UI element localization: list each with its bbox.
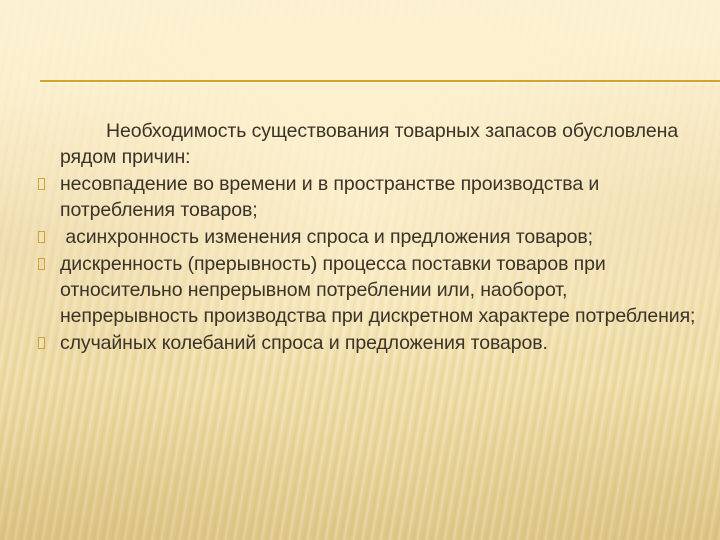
- title-divider-rule: [40, 80, 720, 82]
- tofu-box-bullet-icon: [38, 178, 45, 190]
- list-item: несовпадение во времени и в пространстве…: [34, 171, 698, 223]
- slide-title: [40, 26, 696, 74]
- list-item-label: случайных колебаний спроса и предложения…: [60, 332, 548, 354]
- tofu-box-bullet-icon: [38, 337, 45, 349]
- slide-body: Необходимость существования товарных зап…: [34, 118, 698, 357]
- list-item: асинхронность изменения спроса и предлож…: [34, 224, 698, 250]
- tofu-box-bullet-icon: [38, 258, 45, 270]
- presentation-slide: Необходимость существования товарных зап…: [0, 0, 720, 540]
- tofu-box-bullet-icon: [38, 231, 45, 243]
- bullet-list: несовпадение во времени и в пространстве…: [34, 171, 698, 356]
- lead-paragraph: Необходимость существования товарных зап…: [34, 118, 698, 170]
- list-item-label: несовпадение во времени и в пространстве…: [60, 173, 605, 221]
- list-item-label: асинхронность изменения спроса и предлож…: [60, 226, 593, 248]
- list-item: случайных колебаний спроса и предложения…: [34, 330, 698, 356]
- list-item-label: дискренность (прерывность) процесса пост…: [60, 253, 695, 327]
- list-item: дискренность (прерывность) процесса пост…: [34, 251, 698, 329]
